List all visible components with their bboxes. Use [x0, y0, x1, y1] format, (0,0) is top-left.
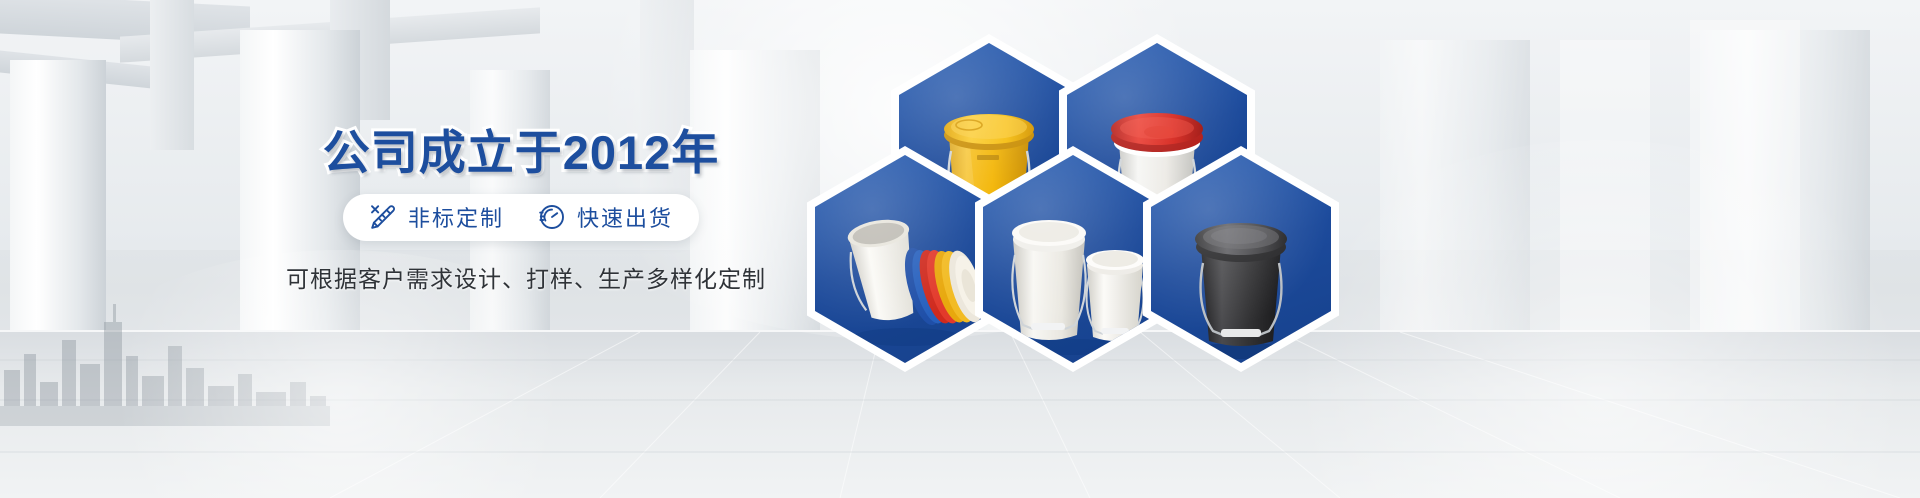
- feature-label-fast-shipping: 快速出货: [577, 201, 673, 233]
- feature-item-custom[interactable]: 非标定制: [369, 201, 504, 233]
- feature-item-fast-shipping[interactable]: 快速出货: [538, 201, 673, 233]
- banner-headline: 公司成立于2012年: [286, 128, 756, 178]
- product-image-bucket-with-color-lids-stack: [815, 155, 995, 363]
- city-skyline-silhouette: [0, 296, 330, 426]
- hex-background: [1151, 155, 1331, 363]
- banner-subtitle: 可根据客户需求设计、打样、生产多样化定制: [286, 260, 756, 294]
- pen-ruler-icon: [369, 203, 397, 231]
- hex-background: [983, 155, 1163, 363]
- promo-banner: 公司成立于2012年 非标定制: [0, 0, 1920, 498]
- speedometer-icon: [538, 203, 566, 231]
- feature-pill: 非标定制 快速出货: [343, 194, 699, 241]
- product-hex-grid: [795, 22, 1535, 382]
- banner-text-block: 公司成立于2012年 非标定制: [286, 128, 756, 294]
- product-image-black-bucket: [1151, 155, 1331, 363]
- hex-background: [815, 155, 995, 363]
- product-image-two-white-buckets: [983, 155, 1163, 363]
- feature-label-custom: 非标定制: [408, 201, 504, 233]
